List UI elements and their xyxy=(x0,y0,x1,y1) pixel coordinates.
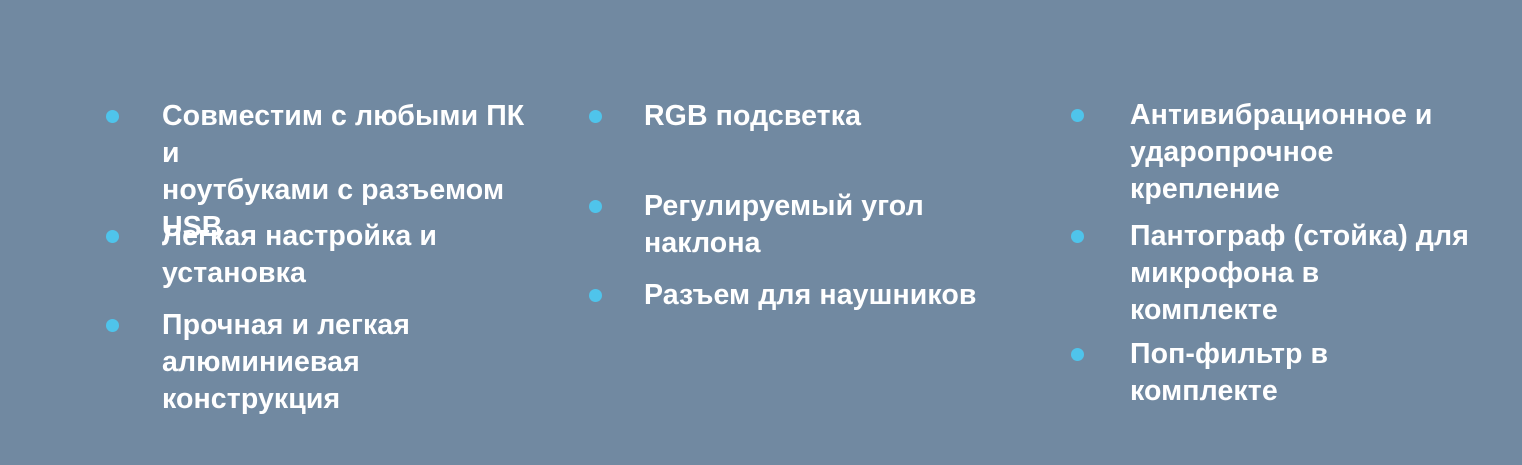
bullet-dot-icon xyxy=(1071,230,1084,243)
feature-label: Прочная и легкая алюминиевая конструкция xyxy=(162,307,526,418)
feature-label: Антивибрационное и ударопрочное креплени… xyxy=(1130,97,1471,208)
feature-item: Антивибрационное и ударопрочное креплени… xyxy=(1071,97,1471,208)
feature-label: Регулируемый угол наклона xyxy=(644,188,1009,262)
bullet-dot-icon xyxy=(106,110,119,123)
bullet-dot-icon xyxy=(589,200,602,213)
feature-item: Разъем для наушников xyxy=(589,277,977,314)
feature-item: Прочная и легкая алюминиевая конструкция xyxy=(106,307,526,418)
bullet-dot-icon xyxy=(106,319,119,332)
bullet-dot-icon xyxy=(1071,109,1084,122)
bullet-dot-icon xyxy=(106,230,119,243)
bullet-dot-icon xyxy=(589,289,602,302)
feature-column-3: Антивибрационное и ударопрочное креплени… xyxy=(1071,0,1471,465)
feature-item: Легкая настройка и установка xyxy=(106,218,526,292)
feature-item: RGB подсветка xyxy=(589,98,861,135)
features-panel: Совместим с любыми ПК и ноутбуками с раз… xyxy=(0,0,1522,465)
feature-label: Легкая настройка и установка xyxy=(162,218,526,292)
feature-column-2: RGB подсветка Регулируемый угол наклона … xyxy=(589,0,1009,465)
feature-label: RGB подсветка xyxy=(644,98,861,135)
feature-item: Регулируемый угол наклона xyxy=(589,188,1009,262)
feature-label: Поп-фильтр в комплекте xyxy=(1130,336,1471,410)
bullet-dot-icon xyxy=(589,110,602,123)
feature-item: Поп-фильтр в комплекте xyxy=(1071,336,1471,410)
feature-label: Разъем для наушников xyxy=(644,277,977,314)
feature-item: Пантограф (стойка) для микрофона в компл… xyxy=(1071,218,1471,329)
feature-label: Пантограф (стойка) для микрофона в компл… xyxy=(1130,218,1471,329)
bullet-dot-icon xyxy=(1071,348,1084,361)
feature-column-1: Совместим с любыми ПК и ноутбуками с раз… xyxy=(106,0,526,465)
